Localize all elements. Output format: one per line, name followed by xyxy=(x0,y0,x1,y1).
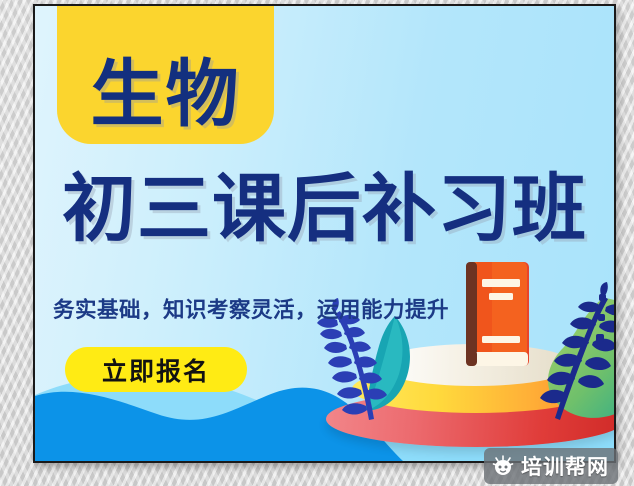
sun-face-icon xyxy=(491,454,515,478)
watermark: 培训帮网 xyxy=(484,448,618,484)
enroll-now-label: 立即报名 xyxy=(102,352,210,388)
watermark-text: 培训帮网 xyxy=(521,451,609,481)
subject-badge: 生物 xyxy=(57,4,274,144)
textbook-icon xyxy=(463,262,529,372)
page-title: 初三课后补习班 xyxy=(35,172,614,246)
subject-badge-label: 生物 xyxy=(91,60,241,130)
subtitle-text: 务实基础，知识考察灵活，运用能力提升 xyxy=(53,293,449,324)
navy-dots-decoration xyxy=(583,292,616,352)
enroll-now-button[interactable]: 立即报名 xyxy=(65,347,247,392)
page-backdrop: 生物 初三课后补习班 务实基础，知识考察灵活，运用能力提升 立即报名 培训帮网 xyxy=(0,0,634,486)
course-promo-poster: 生物 初三课后补习班 务实基础，知识考察灵活，运用能力提升 立即报名 xyxy=(33,4,616,463)
